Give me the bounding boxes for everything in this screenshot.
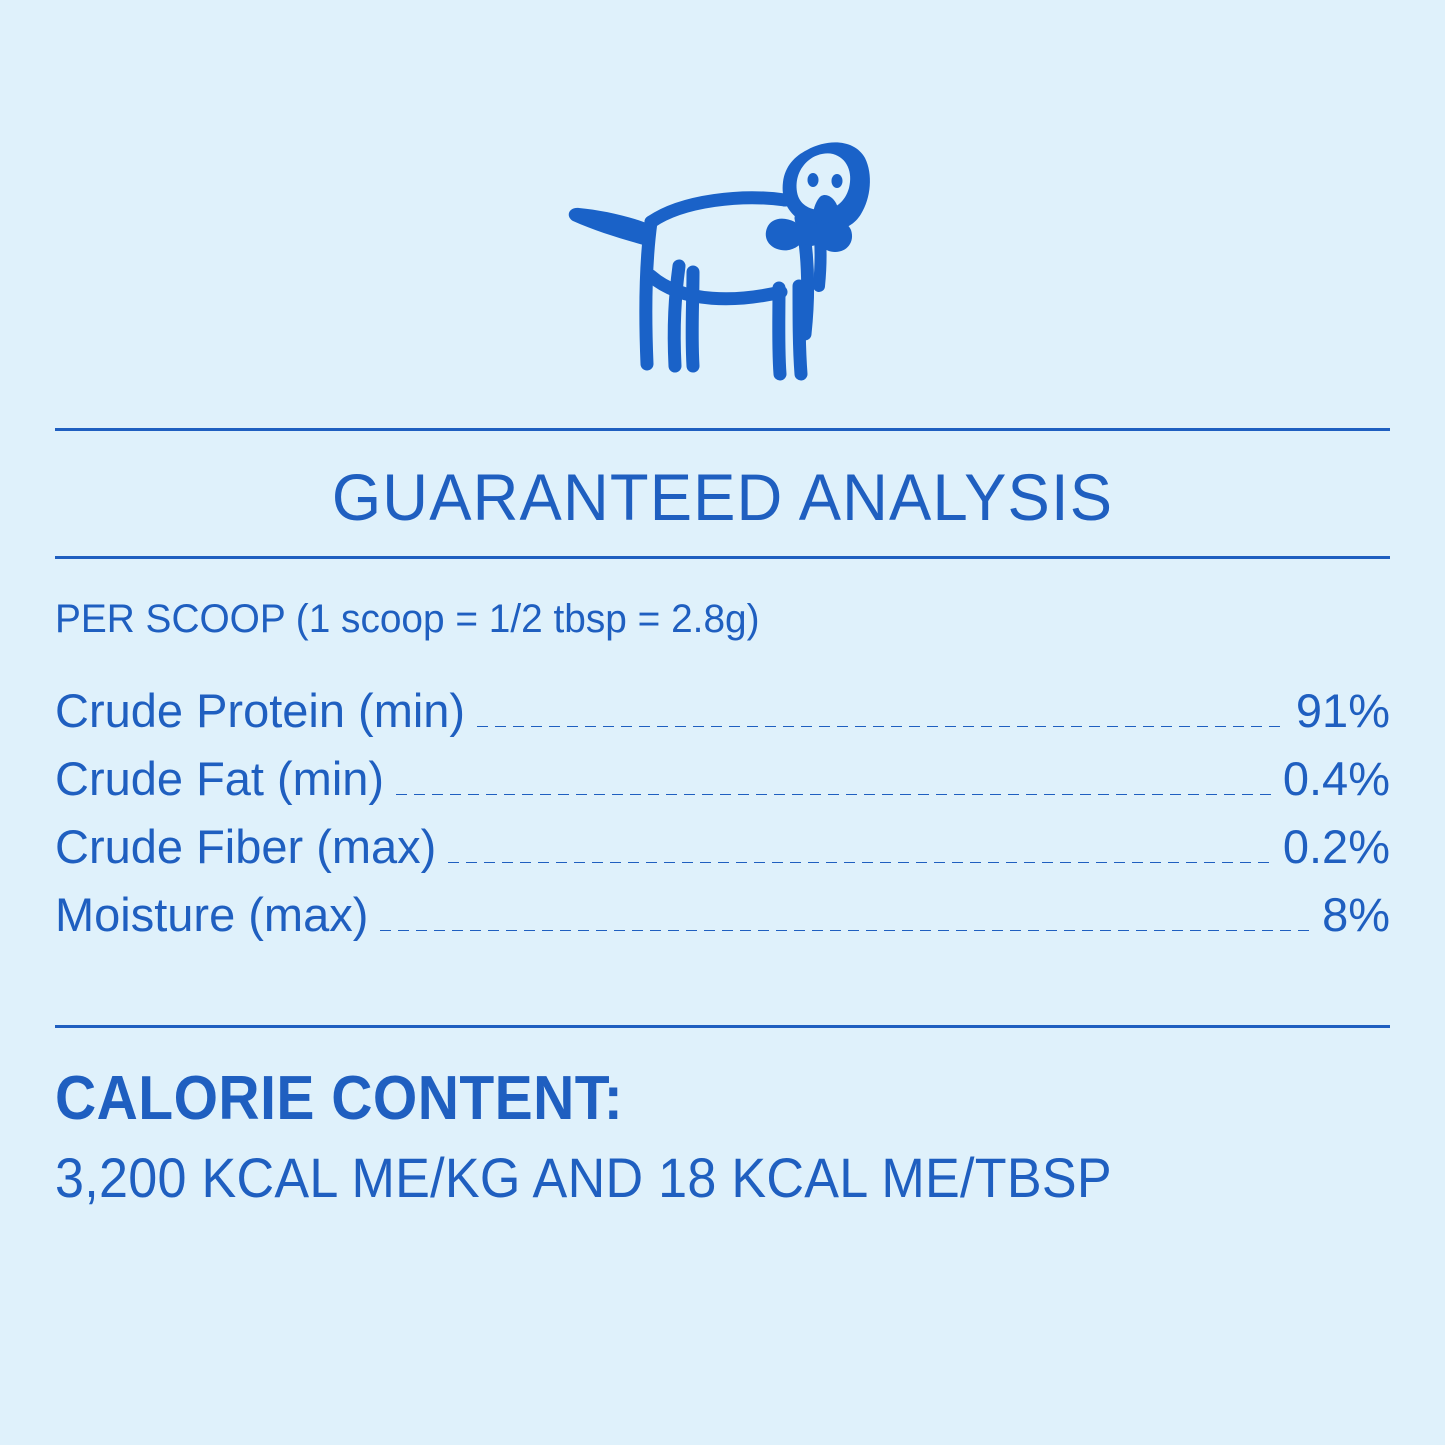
page-title: GUARANTEED ANALYSIS bbox=[29, 456, 1416, 538]
nutrient-value: 0.2% bbox=[1283, 818, 1390, 876]
dog-icon bbox=[533, 126, 913, 396]
calorie-content-value: 3,200 KCAL ME/KG AND 18 KCAL ME/TBSP bbox=[55, 1142, 1297, 1214]
leader-dots bbox=[380, 930, 1310, 931]
leader-dots bbox=[477, 726, 1284, 727]
guaranteed-analysis-list: Crude Protein (min) 91% Crude Fat (min) … bbox=[55, 682, 1390, 954]
leader-dots bbox=[448, 862, 1271, 863]
divider-above-calorie-content bbox=[55, 1025, 1390, 1028]
divider-below-title bbox=[55, 556, 1390, 559]
dog-eye-right bbox=[831, 174, 842, 188]
nutrient-value: 8% bbox=[1322, 886, 1390, 944]
table-row: Crude Protein (min) 91% bbox=[55, 682, 1390, 750]
nutrient-label: Crude Fat (min) bbox=[55, 750, 384, 808]
dog-with-bowtie-illustration bbox=[0, 118, 1445, 403]
leader-dots bbox=[396, 794, 1271, 795]
nutrient-label: Crude Protein (min) bbox=[55, 682, 465, 740]
calorie-content-title: CALORIE CONTENT: bbox=[55, 1060, 1283, 1138]
nutrient-value: 91% bbox=[1296, 682, 1390, 740]
calorie-content-section: CALORIE CONTENT: 3,200 KCAL ME/KG AND 18… bbox=[55, 1060, 1390, 1214]
table-row: Moisture (max) 8% bbox=[55, 886, 1390, 954]
dog-eye-left bbox=[807, 173, 818, 187]
table-row: Crude Fiber (max) 0.2% bbox=[55, 818, 1390, 886]
serving-size-note: PER SCOOP (1 scoop = 1/2 tbsp = 2.8g) bbox=[55, 594, 760, 644]
dog-tail bbox=[568, 207, 648, 245]
table-row: Crude Fat (min) 0.4% bbox=[55, 750, 1390, 818]
nutrient-value: 0.4% bbox=[1283, 750, 1390, 808]
bowtie-knot bbox=[800, 222, 822, 246]
nutrient-label: Crude Fiber (max) bbox=[55, 818, 436, 876]
guaranteed-analysis-label: GUARANTEED ANALYSIS PER SCOOP (1 scoop =… bbox=[0, 0, 1445, 1445]
divider-above-title bbox=[55, 428, 1390, 431]
nutrient-label: Moisture (max) bbox=[55, 886, 368, 944]
